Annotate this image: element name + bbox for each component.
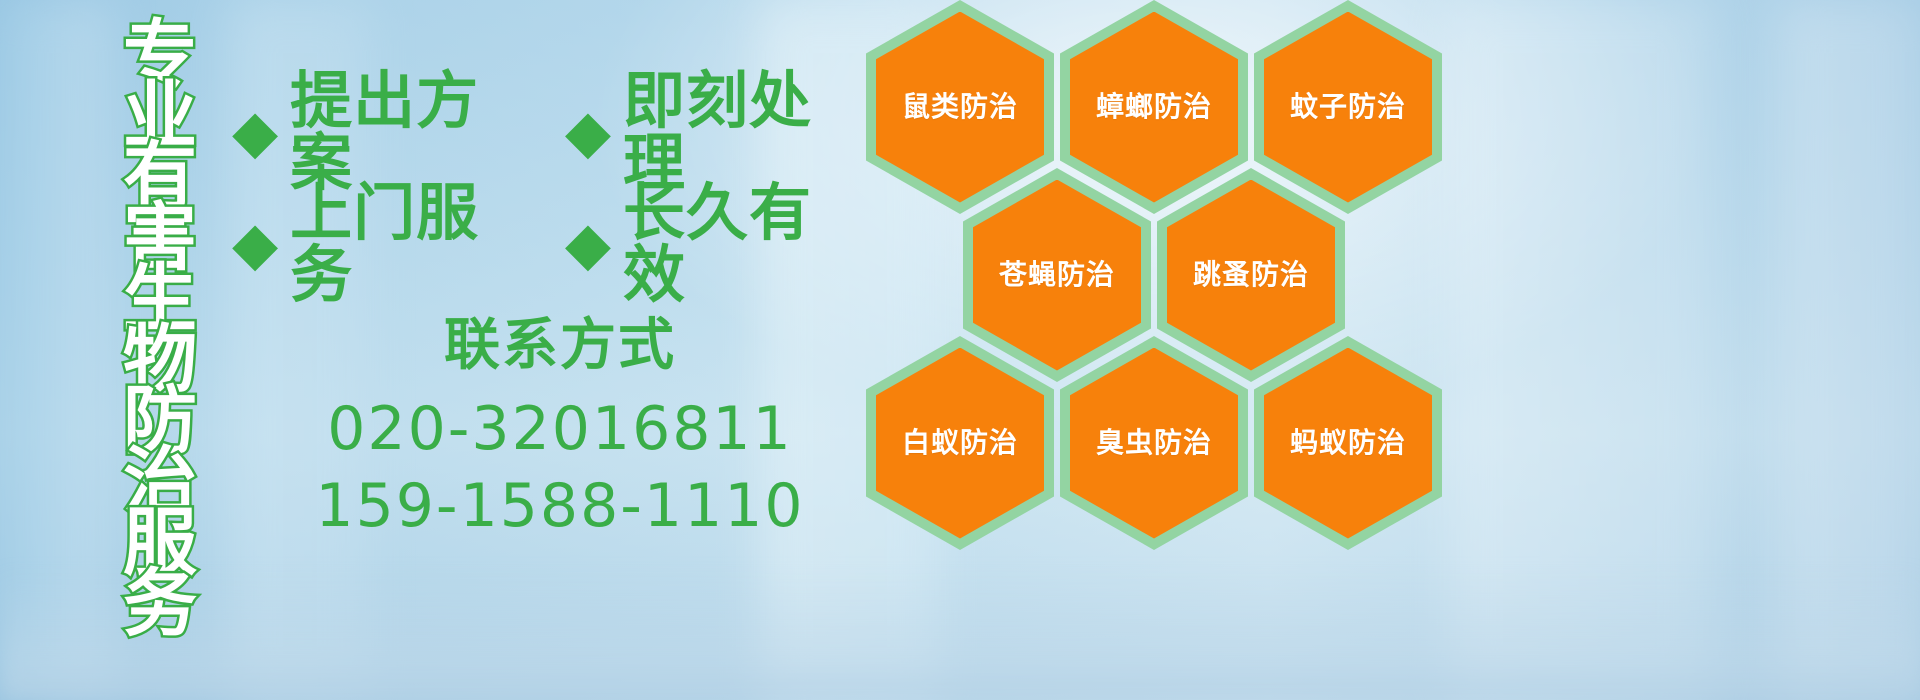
headline-char: 治 — [123, 445, 197, 506]
background-streak — [1450, 0, 1710, 700]
headline-char: 防 — [123, 384, 197, 445]
diamond-bullet-icon: ◆ — [565, 102, 611, 162]
headline-char: 务 — [123, 567, 197, 628]
headline-char: 业 — [123, 79, 197, 140]
contact-block: 联系方式 020-32016811 159-1588-1110 — [300, 312, 820, 545]
service-hexagon-grid: 鼠类防治 蟑螂防治 蚊子防治 苍蝇防治 跳蚤防治 白蚁防治 — [858, 0, 1458, 700]
service-hexagon-flea[interactable]: 跳蚤防治 — [1157, 168, 1345, 382]
vertical-headline: 专 业 有 害 生 物 防 治 服 务 — [108, 18, 212, 574]
service-label: 鼠类防治 — [902, 93, 1018, 121]
service-hexagon-cockroach[interactable]: 蟑螂防治 — [1060, 0, 1248, 214]
feature-label: 上门服务 — [290, 182, 539, 306]
phone-mobile[interactable]: 159-1588-1110 — [300, 468, 820, 545]
headline-char: 害 — [123, 201, 197, 262]
hexagon-inner: 蚊子防治 — [1264, 12, 1432, 203]
feature-list: ◆ 提出方案 ◆ 即刻处理 ◆ 上门服务 ◆ 长久有效 — [232, 76, 872, 300]
headline-char: 物 — [123, 323, 197, 384]
service-label: 蟑螂防治 — [1096, 93, 1212, 121]
feature-item-onsite: ◆ 上门服务 — [232, 182, 539, 306]
headline-char: 生 — [123, 262, 197, 323]
headline-char: 有 — [123, 140, 197, 201]
diamond-bullet-icon: ◆ — [232, 214, 278, 274]
feature-label: 长久有效 — [623, 182, 872, 306]
service-label: 白蚁防治 — [902, 429, 1018, 457]
headline-char: 专 — [123, 18, 197, 79]
hexagon-inner: 白蚁防治 — [876, 348, 1044, 539]
feature-item-longterm: ◆ 长久有效 — [565, 182, 872, 306]
background-streak — [0, 0, 110, 700]
phone-landline[interactable]: 020-32016811 — [300, 391, 820, 468]
hexagon-inner: 跳蚤防治 — [1167, 180, 1335, 371]
hexagon-inner: 臭虫防治 — [1070, 348, 1238, 539]
diamond-bullet-icon: ◆ — [565, 214, 611, 274]
diamond-bullet-icon: ◆ — [232, 102, 278, 162]
service-label: 苍蝇防治 — [999, 261, 1115, 289]
service-label: 蚂蚁防治 — [1290, 429, 1406, 457]
hexagon-inner: 蚂蚁防治 — [1264, 348, 1432, 539]
background-streak — [1780, 0, 1920, 700]
service-hexagon-fly[interactable]: 苍蝇防治 — [963, 168, 1151, 382]
headline-char: 服 — [123, 506, 197, 567]
feature-row: ◆ 上门服务 ◆ 长久有效 — [232, 188, 872, 300]
service-label: 臭虫防治 — [1096, 429, 1212, 457]
hexagon-inner: 苍蝇防治 — [973, 180, 1141, 371]
service-label: 蚊子防治 — [1290, 93, 1406, 121]
promo-banner: 专 业 有 害 生 物 防 治 服 务 ◆ 提出方案 ◆ 即刻处理 ◆ 上门服务 — [0, 0, 1920, 700]
feature-row: ◆ 提出方案 ◆ 即刻处理 — [232, 76, 872, 188]
service-hexagon-mosquito[interactable]: 蚊子防治 — [1254, 0, 1442, 214]
service-hexagon-ant[interactable]: 蚂蚁防治 — [1254, 336, 1442, 550]
service-hexagon-rodent[interactable]: 鼠类防治 — [866, 0, 1054, 214]
hexagon-inner: 鼠类防治 — [876, 12, 1044, 203]
hexagon-inner: 蟑螂防治 — [1070, 12, 1238, 203]
service-hexagon-bedbug[interactable]: 臭虫防治 — [1060, 336, 1248, 550]
service-hexagon-termite[interactable]: 白蚁防治 — [866, 336, 1054, 550]
contact-title: 联系方式 — [300, 312, 820, 379]
service-label: 跳蚤防治 — [1193, 261, 1309, 289]
